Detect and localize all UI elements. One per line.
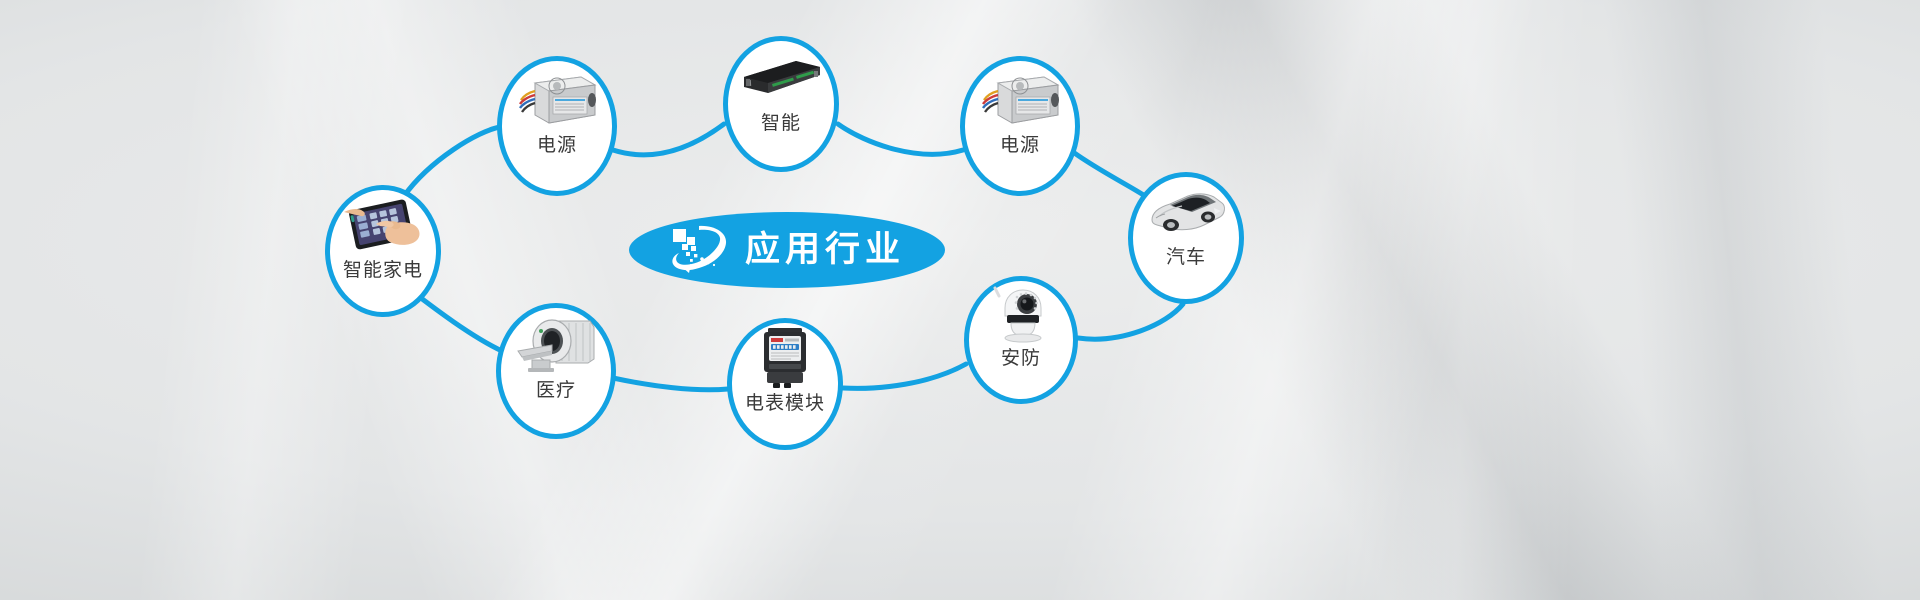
power-supply-icon	[965, 61, 1075, 136]
pixel-swoosh-logo-icon	[669, 223, 731, 277]
node-meter[interactable]: 电表模块	[727, 318, 843, 450]
node-label: 安防	[1001, 349, 1041, 368]
link-smart-powerright	[838, 124, 963, 154]
tablet-hand-icon	[330, 190, 436, 261]
node-label: 电源	[537, 136, 577, 155]
node-smart[interactable]: 智能	[723, 36, 839, 172]
node-label: 医疗	[536, 381, 576, 400]
ct-scanner-icon	[501, 308, 611, 381]
node-label: 电源	[1000, 136, 1040, 155]
node-label: 电表模块	[745, 394, 825, 413]
connector-ring	[0, 0, 1920, 600]
node-smart-home[interactable]: 智能家电	[325, 185, 441, 317]
center-badge[interactable]: 应用行业	[629, 212, 945, 288]
link-powerleft-smart	[613, 124, 724, 155]
badge-label: 应用行业	[745, 233, 905, 268]
node-security[interactable]: 安防	[964, 276, 1078, 404]
node-label: 汽车	[1166, 248, 1206, 267]
rack-server-icon	[728, 41, 834, 114]
link-automotive-security	[1078, 304, 1183, 339]
link-smarthome-powerleft	[404, 127, 500, 196]
node-label: 智能家电	[343, 261, 423, 280]
node-label: 智能	[761, 114, 801, 133]
application-industries-banner: 电源 智能	[0, 0, 1920, 600]
node-automotive[interactable]: 汽车	[1128, 172, 1244, 304]
node-power-left[interactable]: 电源	[497, 56, 617, 196]
electric-meter-icon	[732, 323, 838, 394]
link-security-meter	[843, 364, 966, 388]
power-supply-icon	[502, 61, 612, 136]
link-meter-medical	[613, 378, 728, 390]
sports-car-icon	[1133, 177, 1239, 248]
node-power-right[interactable]: 电源	[960, 56, 1080, 196]
node-medical[interactable]: 医疗	[496, 303, 616, 439]
ip-camera-icon	[969, 281, 1073, 349]
